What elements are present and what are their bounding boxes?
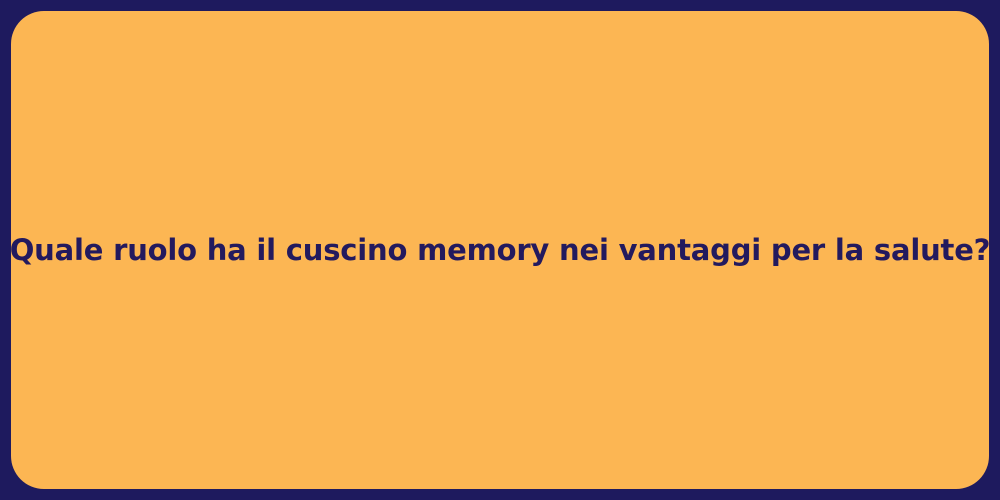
outer-frame: Quale ruolo ha il cuscino memory nei van… xyxy=(0,0,1000,500)
question-card: Quale ruolo ha il cuscino memory nei van… xyxy=(11,11,989,489)
question-text: Quale ruolo ha il cuscino memory nei van… xyxy=(10,232,991,268)
